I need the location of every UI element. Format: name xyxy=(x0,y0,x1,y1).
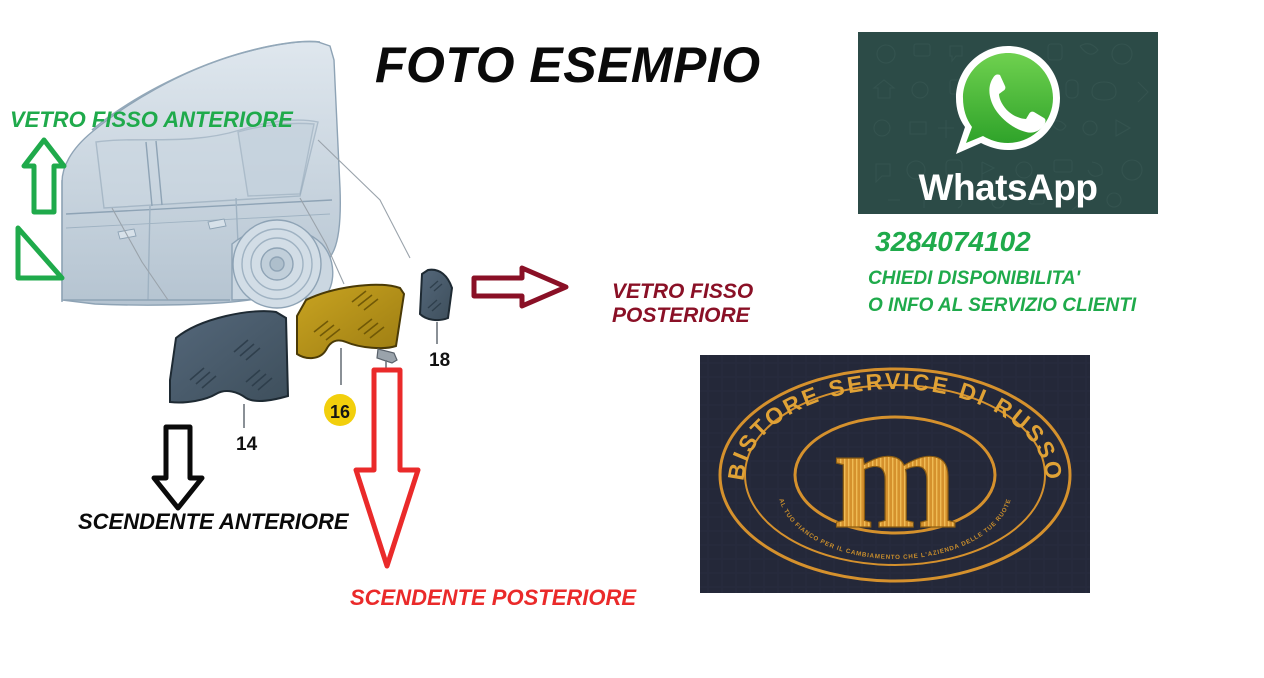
label-scendente-posteriore: SCENDENTE POSTERIORE xyxy=(350,586,636,611)
whatsapp-cta-line2: O INFO AL SERVIZIO CLIENTI xyxy=(868,295,1136,317)
callout-16: 16 xyxy=(330,402,350,422)
whatsapp-wordmark: WhatsApp xyxy=(858,169,1158,206)
callout-18: 18 xyxy=(429,350,450,371)
label-scendente-anteriore: SCENDENTE ANTERIORE xyxy=(78,510,349,535)
car-body-illustration xyxy=(62,42,340,309)
poster-canvas: 14 16 17 18 xyxy=(0,0,1264,678)
callout-14: 14 xyxy=(236,434,258,455)
whatsapp-banner: WhatsApp xyxy=(858,32,1158,214)
whatsapp-phone-number[interactable]: 3284074102 xyxy=(875,226,1031,258)
label-vetro-fisso-posteriore: VETRO FISSO POSTERIORE xyxy=(612,280,753,327)
mricambistore-logo: MRICAMBISTORE SERVICE DI RUSSO MARCO m A… xyxy=(700,355,1090,593)
part-18-rear-quarter-glass: 18 xyxy=(420,270,452,371)
label-vetro-fisso-posteriore-line2: POSTERIORE xyxy=(612,304,753,328)
svg-text:m: m xyxy=(833,394,958,560)
black-down-arrow-icon xyxy=(154,427,202,508)
dark-red-right-arrow-icon xyxy=(474,268,566,306)
green-triangle-icon xyxy=(18,228,62,278)
label-vetro-fisso-anteriore: VETRO FISSO ANTERIORE xyxy=(10,108,293,133)
company-logo-banner: MRICAMBISTORE SERVICE DI RUSSO MARCO m A… xyxy=(700,355,1090,593)
whatsapp-speech-bubble-icon xyxy=(942,42,1074,168)
page-title: FOTO ESEMPIO xyxy=(375,36,761,94)
green-up-arrow-icon xyxy=(24,140,64,212)
car-glass-exploded-diagram: 14 16 17 18 xyxy=(0,0,670,640)
red-down-arrow-icon xyxy=(356,370,418,566)
logo-monogram: m xyxy=(833,394,958,560)
whatsapp-cta-line1: CHIEDI DISPONIBILITA' xyxy=(868,268,1080,290)
whatsapp-logo xyxy=(942,42,1074,173)
label-vetro-fisso-posteriore-line1: VETRO FISSO xyxy=(612,280,753,304)
